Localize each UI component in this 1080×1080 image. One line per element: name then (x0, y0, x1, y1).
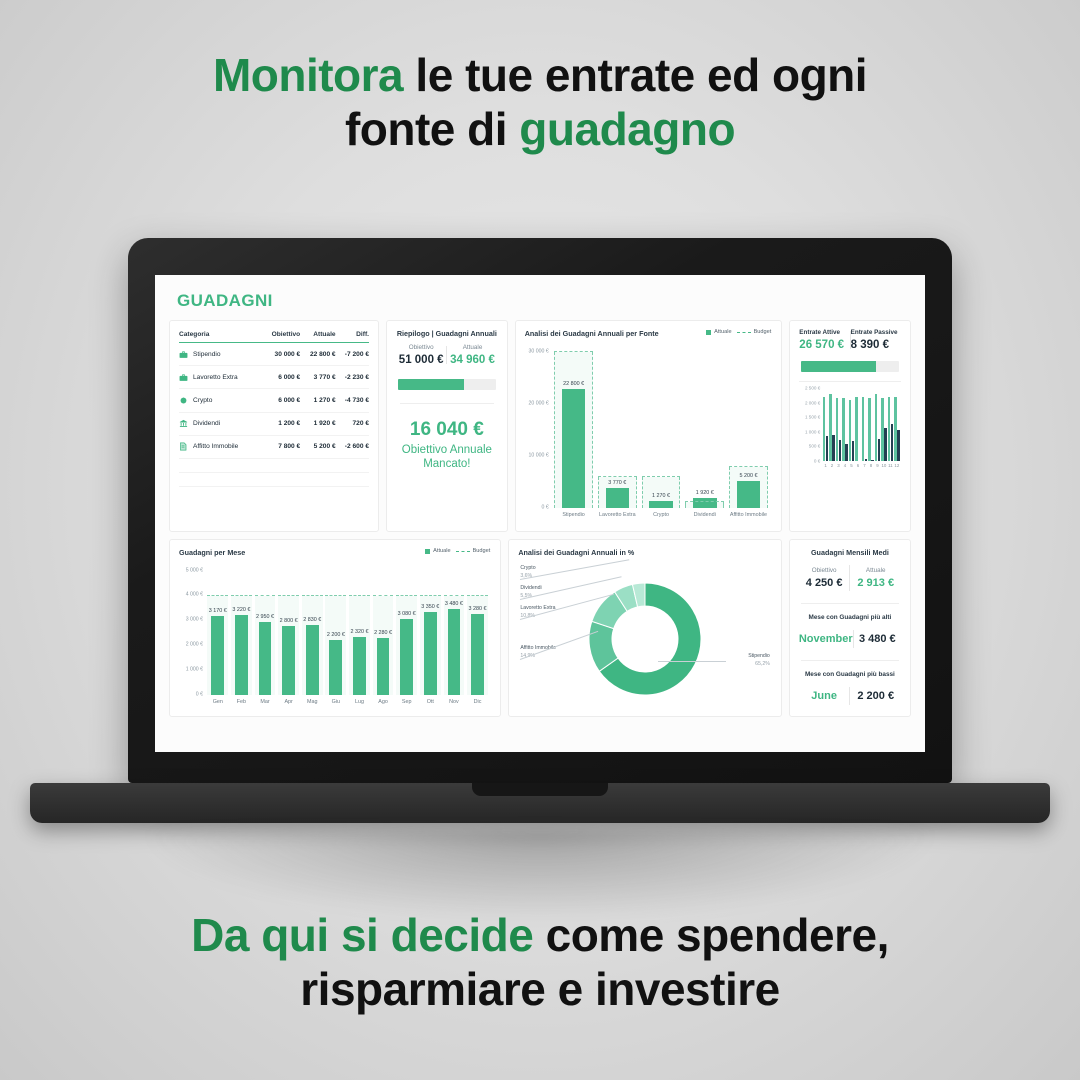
cell-obiettivo: 6 000 € (261, 389, 300, 412)
bar-group-container: 22 800 €3 770 €1 270 €1 920 €5 200 € (552, 352, 771, 508)
summary-card: Riepilogo | Guadagni Annuali Obiettivo 5… (386, 320, 508, 532)
bar-group[interactable]: 2 800 € (277, 571, 301, 695)
monthly-plot: 0 €1 000 €2 000 €3 000 €4 000 €5 000 €3 … (179, 571, 491, 711)
budget-bracket (685, 502, 686, 508)
bar-group[interactable]: 3 350 € (418, 571, 442, 695)
mini-bars (822, 388, 900, 461)
budget-line (278, 595, 299, 596)
y-tick-label: 0 € (542, 505, 549, 510)
cell-diff: -7 200 € (336, 343, 369, 366)
lowest-month-name: June (799, 690, 850, 702)
legend-swatch-icon (706, 330, 711, 335)
cell-diff: -2 230 € (336, 366, 369, 389)
mini-x-axis: 123456789101112 (822, 463, 900, 473)
budget-line (325, 595, 346, 596)
budget-zone (554, 352, 593, 508)
averages-obiettivo-label: Obiettivo (799, 567, 850, 574)
averages-obiettivo-value: 4 250 € (806, 577, 843, 589)
dashboard-title: GUADAGNI (177, 291, 911, 311)
budget-zone (444, 596, 465, 695)
summary-progress-bar (398, 379, 496, 390)
x-tick-label: Giu (324, 696, 348, 711)
bar-value-label: 3 770 € (595, 480, 639, 486)
cell-category: Crypto (179, 389, 261, 412)
x-tick-label: Dic (466, 696, 490, 711)
x-tick-label: Gen (206, 696, 230, 711)
bar-entrate-attive (868, 398, 870, 461)
donut-svg (575, 569, 715, 709)
summary-title: Riepilogo | Guadagni Annuali (396, 329, 498, 338)
headline-top-text-1: le tue entrate ed ogni (403, 49, 867, 101)
legend-label-budget-monthly: Budget (473, 548, 491, 554)
entrate-attive-value: 26 570 € (799, 339, 849, 351)
summary-gap-caption-1: Obiettivo Annuale (402, 444, 492, 456)
bar-value-label: 2 950 € (253, 614, 277, 620)
bar-value-label: 22 800 € (552, 381, 596, 387)
table-row[interactable]: Affitto Immobile7 800 €5 200 €-2 600 € (179, 435, 369, 458)
entrate-attive-label: Entrate Attive (799, 329, 849, 336)
budget-line (467, 595, 488, 596)
mini-y-axis: 0 €500 €1 000 €1 500 €2 000 €2 500 € (799, 388, 821, 461)
y-tick-label: 4 000 € (186, 593, 203, 598)
laptop-trackpad-notch (472, 783, 608, 796)
bar-group[interactable]: 2 830 € (300, 571, 324, 695)
headline-bottom: Da qui si decide come spendere, risparmi… (0, 908, 1080, 1017)
donut-leader-line (658, 661, 726, 662)
table-row-empty (179, 473, 369, 487)
budget-zone (255, 596, 276, 695)
cell-attuale: 22 800 € (300, 343, 335, 366)
table-row[interactable]: Stipendio30 000 €22 800 €-7 200 € (179, 343, 369, 366)
headline-top-accent-1: Monitora (213, 49, 403, 101)
averages-attuale-label: Attuale (850, 567, 901, 574)
budget-bracket (592, 352, 593, 508)
mini-y-tick: 0 € (814, 459, 820, 464)
y-axis: 0 €1 000 €2 000 €3 000 €4 000 €5 000 € (179, 571, 205, 695)
summary-gap-caption: Obiettivo Annuale Mancato! (396, 444, 498, 472)
highest-month-value: 3 480 € (854, 633, 901, 645)
x-tick-label: Mag (300, 696, 324, 711)
entrate-card: Entrate Attive 26 570 € Entrate Passive … (789, 320, 911, 532)
headline-bottom-accent: Da qui si decide (191, 909, 533, 961)
mini-bar-group[interactable] (894, 388, 900, 461)
x-tick-label: Dividendi (683, 509, 727, 524)
donut-chart-title: Analisi dei Guadagni Annuali in % (518, 548, 772, 557)
summary-obiettivo-value: 51 000 € (396, 354, 446, 366)
x-tick-label: Sep (395, 696, 419, 711)
dashboard-row-top: Categoria Obiettivo Attuale Diff. Stipen… (169, 320, 911, 532)
x-tick-label: Nov (442, 696, 466, 711)
cell-category: Stipendio (179, 343, 261, 366)
summary-attuale: Attuale 34 960 € (447, 344, 497, 366)
bar-group[interactable]: 3 770 € (595, 352, 639, 508)
x-axis: GenFebMarAprMagGiuLugAgoSepOttNovDic (206, 696, 489, 711)
y-tick-label: 2 000 € (186, 643, 203, 648)
budget-line (255, 595, 276, 596)
x-axis: StipendioLavoretto ExtraCryptoDividendiA… (552, 509, 771, 524)
dashboard-row-bottom: Guadagni per Mese Attuale Budget 0 €1 00… (169, 539, 911, 717)
headline-bottom-text-2: risparmiare e investire (0, 962, 1080, 1016)
budget-line (685, 501, 724, 502)
col-categoria: Categoria (179, 329, 261, 343)
legend-dash-icon (456, 551, 470, 552)
donut-plot: Crypto3,6%Dividendi5,5%Lavoretto Extra10… (518, 563, 772, 711)
budget-line (420, 595, 441, 596)
legend-item-budget: Budget (737, 329, 772, 335)
averages-separator-2 (801, 660, 899, 661)
x-tick-label: Ago (371, 696, 395, 711)
mini-y-tick: 1 000 € (805, 429, 820, 434)
budget-bracket (723, 502, 724, 508)
mini-y-tick: 500 € (809, 444, 821, 449)
budget-zone (373, 596, 394, 695)
col-obiettivo: Obiettivo (261, 329, 300, 343)
y-axis: 0 €10 000 €20 000 €30 000 € (525, 352, 551, 508)
budget-zone (420, 596, 441, 695)
laptop-screen: GUADAGNI Categoria Obiettivo Attuale Dif… (155, 275, 925, 752)
bar-value-label: 5 200 € (727, 473, 771, 479)
bar-entrate-passive (897, 430, 899, 461)
entrate-passive-value: 8 390 € (851, 339, 901, 351)
budget-zone (278, 596, 299, 695)
bar-value-label: 2 800 € (277, 618, 301, 624)
table-row[interactable]: Crypto6 000 €1 270 €-4 730 € (179, 389, 369, 412)
lowest-month-value: 2 200 € (850, 690, 901, 702)
col-attuale: Attuale (300, 329, 335, 343)
budget-bracket (642, 477, 643, 508)
averages-title: Guadagni Mensili Medi (799, 548, 901, 557)
x-tick-label: Stipendio (552, 509, 596, 524)
sources-plot: 0 €10 000 €20 000 €30 000 €22 800 €3 770… (525, 352, 773, 524)
entrate-passive: Entrate Passive 8 390 € (851, 329, 901, 351)
budget-bracket (554, 352, 555, 508)
bar-value-label: 3 170 € (206, 608, 230, 614)
cell-obiettivo: 6 000 € (261, 366, 300, 389)
y-tick-label: 1 000 € (186, 667, 203, 672)
summary-values: Obiettivo 51 000 € Attuale 34 960 € (396, 344, 498, 366)
mini-y-tick: 1 500 € (805, 415, 820, 420)
lowest-month-values: June 2 200 € (799, 685, 901, 707)
dashboard: GUADAGNI Categoria Obiettivo Attuale Dif… (155, 275, 925, 752)
cell-attuale: 5 200 € (300, 435, 335, 458)
bar-group[interactable]: 3 280 € (466, 571, 490, 695)
bar-value-label: 2 200 € (324, 632, 348, 638)
col-diff: Diff. (336, 329, 369, 343)
summary-attuale-value: 34 960 € (447, 354, 497, 366)
averages-separator-1 (801, 603, 899, 604)
bar-entrate-attive (855, 397, 857, 461)
bar-value-label: 2 830 € (300, 617, 324, 623)
table-row-empty (179, 458, 369, 472)
averages-attuale-value: 2 913 € (857, 577, 894, 589)
mini-y-tick: 2 000 € (805, 400, 820, 405)
budget-zone (302, 596, 323, 695)
bar-value-label: 3 080 € (395, 611, 419, 617)
legend-label-attuale: Attuale (714, 329, 731, 335)
table-row[interactable]: Lavoretto Extra6 000 €3 770 €-2 230 € (179, 366, 369, 389)
bar-entrate-attive (862, 397, 864, 461)
bar-value-label: 3 350 € (418, 604, 442, 610)
bar-group[interactable]: 2 200 € (324, 571, 348, 695)
bar-group[interactable]: 3 080 € (395, 571, 419, 695)
legend-item-attuale: Attuale (706, 329, 731, 335)
y-tick-label: 3 000 € (186, 618, 203, 623)
cell-attuale: 3 770 € (300, 366, 335, 389)
bar-group[interactable]: 3 220 € (230, 571, 254, 695)
bar-value-label: 3 220 € (230, 607, 254, 613)
summary-separator (400, 403, 494, 404)
cell-attuale: 1 270 € (300, 389, 335, 412)
legend-label-attuale-monthly: Attuale (433, 548, 450, 554)
headline-bottom-text-1: come spendere, (533, 909, 889, 961)
mini-y-tick: 2 500 € (805, 386, 820, 391)
budget-line (729, 466, 768, 467)
bar-group[interactable]: 2 950 € (253, 571, 277, 695)
bar-value-label: 3 480 € (442, 601, 466, 607)
cell-obiettivo: 30 000 € (261, 343, 300, 366)
x-tick-label: Lug (348, 696, 372, 711)
monthly-chart-legend: Attuale Budget (425, 548, 490, 554)
bar-value-label: 2 280 € (371, 630, 395, 636)
bar-group[interactable]: 2 320 € (348, 571, 372, 695)
donut-callout-label: Stipendio65,2% (748, 653, 770, 668)
categories-table: Categoria Obiettivo Attuale Diff. Stipen… (179, 329, 369, 487)
categories-card: Categoria Obiettivo Attuale Diff. Stipen… (169, 320, 379, 532)
sources-chart-legend: Attuale Budget (706, 329, 771, 335)
highest-month-label: Mese con Guadagni più alti (799, 614, 901, 621)
monthly-chart-card: Guadagni per Mese Attuale Budget 0 €1 00… (169, 539, 501, 717)
budget-line (554, 351, 593, 352)
mini-x-tick: 12 (894, 463, 900, 473)
legend-item-budget-monthly: Budget (456, 548, 491, 554)
y-tick-label: 10 000 € (529, 453, 549, 458)
cell-diff: -4 730 € (336, 389, 369, 412)
entrate-passive-label: Entrate Passive (851, 329, 901, 336)
donut-chart-card: Analisi dei Guadagni Annuali in % Crypto… (508, 539, 782, 717)
budget-line (302, 595, 323, 596)
budget-zone (685, 502, 724, 508)
x-tick-label: Mar (253, 696, 277, 711)
averages-values: Obiettivo 4 250 € Attuale 2 913 € (799, 563, 901, 593)
cell-category: Dividendi (179, 412, 261, 435)
legend-item-attuale-monthly: Attuale (425, 548, 450, 554)
entrate-progress-bar (801, 361, 899, 372)
y-tick-label: 0 € (196, 692, 203, 697)
budget-line (444, 595, 465, 596)
cell-attuale: 1 920 € (300, 412, 335, 435)
summary-attuale-label: Attuale (447, 344, 497, 351)
bar-group[interactable]: 5 200 € (727, 352, 771, 508)
x-tick-label: Apr (277, 696, 301, 711)
highest-month-name: November (799, 633, 853, 645)
budget-line (349, 595, 370, 596)
lowest-month-label: Mese con Guadagni più bassi (799, 671, 901, 678)
summary-obiettivo-label: Obiettivo (396, 344, 446, 351)
laptop-shadow (150, 830, 930, 920)
entrate-monthly-chart: 0 €500 €1 000 €1 500 €2 000 €2 500 €1234… (799, 381, 901, 473)
x-tick-label: Affitto Immobile (727, 509, 771, 524)
headline-top-text-2: fonte di (345, 103, 519, 155)
averages-attuale: Attuale 2 913 € (850, 567, 901, 589)
bar-value-label: 3 280 € (466, 606, 490, 612)
entrate-values: Entrate Attive 26 570 € Entrate Passive … (799, 329, 901, 351)
summary-gap-caption-2: Mancato! (423, 458, 470, 470)
bar-group[interactable]: 3 170 € (206, 571, 230, 695)
budget-line (373, 595, 394, 596)
bar-group[interactable]: 3 480 € (442, 571, 466, 695)
entrate-attive: Entrate Attive 26 570 € (799, 329, 849, 351)
averages-obiettivo: Obiettivo 4 250 € (799, 567, 850, 589)
cell-diff: -2 600 € (336, 435, 369, 458)
bar-group[interactable]: 1 270 € (639, 352, 683, 508)
bar-group[interactable]: 2 280 € (371, 571, 395, 695)
budget-line (207, 595, 228, 596)
budget-zone (642, 477, 681, 508)
bar-group[interactable]: 22 800 € (552, 352, 596, 508)
table-row[interactable]: Dividendi1 200 €1 920 €720 € (179, 412, 369, 435)
legend-swatch-icon (425, 549, 430, 554)
legend-dash-icon (737, 332, 751, 333)
x-tick-label: Feb (230, 696, 254, 711)
x-tick-label: Ott (418, 696, 442, 711)
table-header-row: Categoria Obiettivo Attuale Diff. (179, 329, 369, 343)
x-tick-label: Lavoretto Extra (595, 509, 639, 524)
budget-line (598, 476, 637, 477)
budget-line (396, 595, 417, 596)
budget-zone (325, 596, 346, 695)
bar-value-label: 1 920 € (683, 490, 727, 496)
bar-group[interactable]: 1 920 € (683, 352, 727, 508)
bar-value-label: 1 270 € (639, 493, 683, 499)
cell-obiettivo: 7 800 € (261, 435, 300, 458)
bar-group-container: 3 170 €3 220 €2 950 €2 800 €2 830 €2 200… (206, 571, 489, 695)
sources-chart-card: Analisi dei Guadagni Annuali per Fonte A… (515, 320, 783, 532)
budget-line (231, 595, 252, 596)
y-tick-label: 30 000 € (529, 349, 549, 354)
y-tick-label: 5 000 € (186, 568, 203, 573)
cell-category: Affitto Immobile (179, 435, 261, 458)
summary-gap-value: 16 040 € (396, 419, 498, 441)
legend-label-budget: Budget (754, 329, 772, 335)
headline-top: Monitora le tue entrate ed ogni fonte di… (0, 48, 1080, 157)
x-tick-label: Crypto (639, 509, 683, 524)
bar-value-label: 2 320 € (348, 629, 372, 635)
budget-line (642, 476, 681, 477)
cell-category: Lavoretto Extra (179, 366, 261, 389)
headline-top-accent-2: guadagno (519, 103, 735, 155)
budget-bracket (679, 477, 680, 508)
cell-diff: 720 € (336, 412, 369, 435)
summary-obiettivo: Obiettivo 51 000 € (396, 344, 446, 366)
averages-card: Guadagni Mensili Medi Obiettivo 4 250 € … (789, 539, 911, 717)
highest-month-values: November 3 480 € (799, 628, 901, 650)
y-tick-label: 20 000 € (529, 401, 549, 406)
budget-zone (349, 596, 370, 695)
cell-obiettivo: 1 200 € (261, 412, 300, 435)
